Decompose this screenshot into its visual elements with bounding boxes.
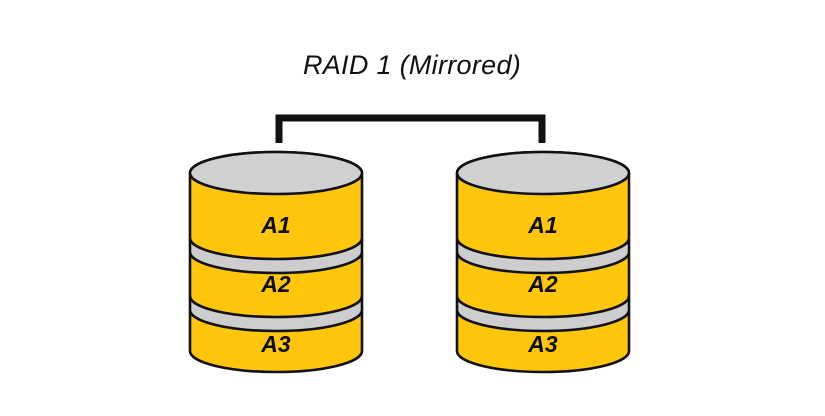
- disk-2[interactable]: A1 A2 A3: [457, 152, 629, 372]
- disk-1[interactable]: A1 A2 A3: [190, 152, 362, 372]
- disk-1-stripe-label-a3: A3: [260, 331, 291, 357]
- page-title: RAID 1 (Mirrored): [303, 50, 521, 80]
- mirror-bracket-path: [279, 118, 542, 143]
- raid-diagram-canvas: RAID 1 (Mirrored) A1 A2: [0, 0, 825, 416]
- disk-2-stripe-label-a2: A2: [527, 271, 558, 297]
- disk-1-stripe-label-a2: A2: [260, 271, 291, 297]
- disk-2-top-platter: [457, 152, 629, 194]
- mirror-bracket: [279, 118, 542, 143]
- disk-2-stripe-label-a1: A1: [527, 212, 557, 238]
- disk-1-stripe-label-a1: A1: [260, 212, 290, 238]
- disk-1-top-platter: [190, 152, 362, 194]
- raid-diagram: RAID 1 (Mirrored) A1 A2: [0, 0, 825, 416]
- disk-2-stripe-label-a3: A3: [527, 331, 558, 357]
